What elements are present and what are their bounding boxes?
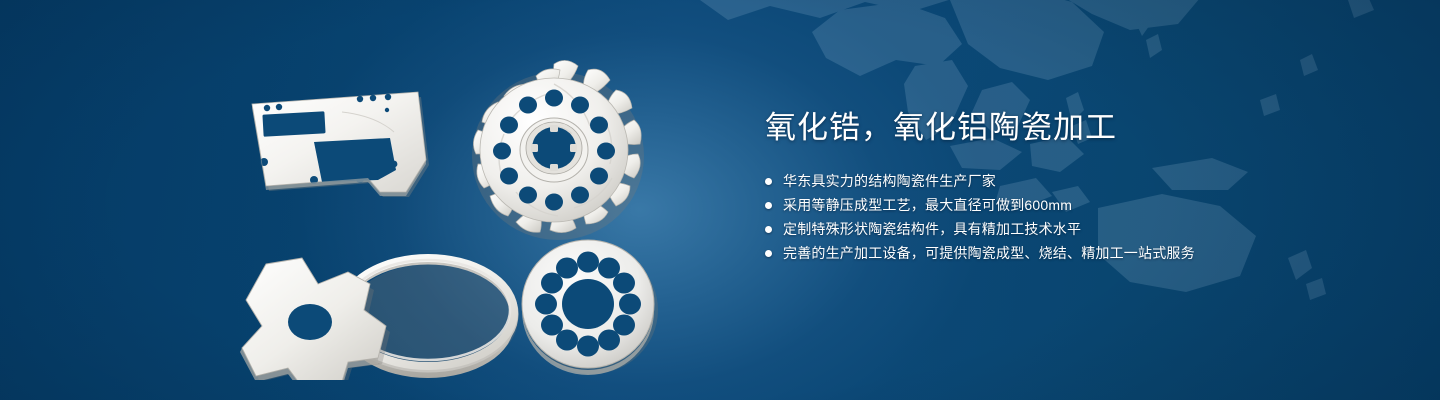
list-item-label: 定制特殊形状陶瓷结构件，具有精加工技术水平 bbox=[783, 218, 1081, 241]
ceramic-perforated-disc bbox=[522, 240, 658, 375]
list-item: 定制特殊形状陶瓷结构件，具有精加工技术水平 bbox=[765, 218, 1325, 241]
bullet-dot-icon bbox=[765, 250, 772, 257]
feature-list: 华东具实力的结构陶瓷件生产厂家 采用等静压成型工艺，最大直径可做到600mm 定… bbox=[765, 170, 1325, 265]
list-item: 完善的生产加工设备，可提供陶瓷成型、烧结、精加工一站式服务 bbox=[765, 242, 1325, 265]
banner-copy: 氧化锆，氧化铝陶瓷加工 华东具实力的结构陶瓷件生产厂家 采用等静压成型工艺，最大… bbox=[765, 108, 1325, 266]
page-title: 氧化锆，氧化铝陶瓷加工 bbox=[765, 108, 1325, 148]
list-item-label: 华东具实力的结构陶瓷件生产厂家 bbox=[783, 170, 996, 193]
list-item-label: 采用等静压成型工艺，最大直径可做到600mm bbox=[783, 194, 1072, 217]
bullet-dot-icon bbox=[765, 178, 772, 185]
ceramic-impeller-disc bbox=[472, 60, 644, 240]
list-item: 采用等静压成型工艺，最大直径可做到600mm bbox=[765, 194, 1325, 217]
bullet-dot-icon bbox=[765, 202, 772, 209]
ceramic-products-photo bbox=[230, 40, 690, 380]
list-item-label: 完善的生产加工设备，可提供陶瓷成型、烧结、精加工一站式服务 bbox=[783, 242, 1195, 265]
list-item: 华东具实力的结构陶瓷件生产厂家 bbox=[765, 170, 1325, 193]
bullet-dot-icon bbox=[765, 226, 772, 233]
hero-banner: 氧化锆，氧化铝陶瓷加工 华东具实力的结构陶瓷件生产厂家 采用等静压成型工艺，最大… bbox=[0, 0, 1440, 400]
ceramic-mounting-plate bbox=[252, 92, 429, 197]
